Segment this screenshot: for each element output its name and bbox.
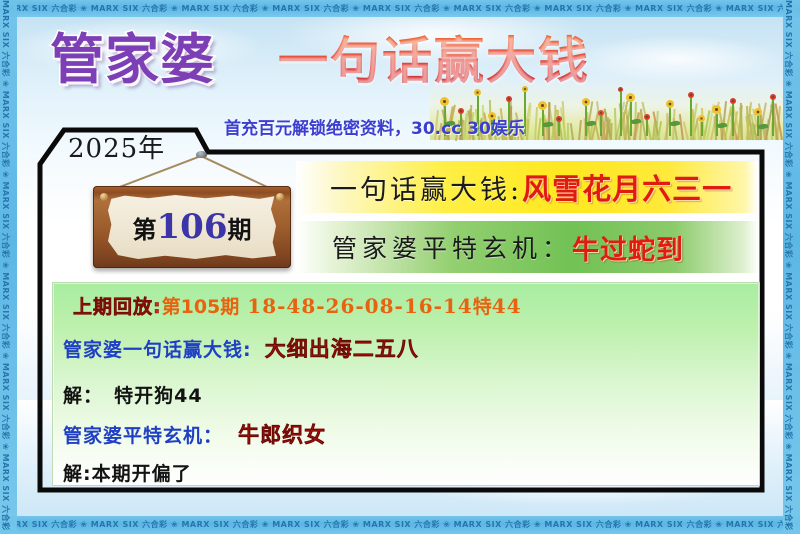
flower-head <box>582 98 590 106</box>
watermark-text-bottom: MARX SIX 六合彩 ❀ MARX SIX 六合彩 ❀ MARX SIX 六… <box>0 516 800 534</box>
saying-value: 大细出海二五八 <box>257 337 419 361</box>
banner-green-label: 管家婆平特玄机： <box>296 229 572 265</box>
watermark-border-left: MARX SIX 六合彩 ❀ MARX SIX 六合彩 ❀ MARX SIX 六… <box>0 0 17 534</box>
header-title-block: 管家婆 一句话赢大钱 <box>50 30 670 92</box>
flower-head <box>770 94 776 100</box>
flower-head <box>598 110 604 116</box>
flower-head <box>440 97 449 106</box>
watermark-border-top: MARX SIX 六合彩 ❀ MARX SIX 六合彩 ❀ MARX SIX 六… <box>0 0 800 17</box>
poster-root: 管家婆 一句话赢大钱 首充百元解锁绝密资料，30.cc 30娱乐 2025年 第… <box>0 0 800 534</box>
flower-head <box>556 116 562 122</box>
banner-ping-te-xuan-ji: 管家婆平特玄机：牛过蛇到 <box>296 221 758 273</box>
playback-row-solution-2: 解:本期开偏了 <box>63 459 192 486</box>
sign-prefix: 第 <box>133 215 157 244</box>
previous-results-panel: 上期回放:第105期18-48-26-08-16-14特44 管家婆一句话赢大钱… <box>52 282 760 486</box>
flower-head <box>754 108 762 116</box>
solution-2-text: 解:本期开偏了 <box>63 463 192 485</box>
playback-special-label: 特 <box>473 296 492 318</box>
issue-wooden-sign: 第106期 <box>93 186 291 268</box>
playback-row-xuanji: 管家婆平特玄机： 牛郎织女 <box>63 419 326 449</box>
playback-row-saying: 管家婆一句话赢大钱: 大细出海二五八 <box>63 333 419 363</box>
screw-icon-right <box>276 193 284 201</box>
flower-head <box>666 100 674 108</box>
flower-icon <box>770 94 776 136</box>
banner-yiju-hua-ying-da-qian: 一句话赢大钱:风雪花月六三一 <box>296 161 758 213</box>
sign-issue-text: 第106期 <box>133 207 252 247</box>
flower-head <box>644 114 650 120</box>
playback-issue: 第105期 <box>162 296 240 318</box>
banner-green-value: 牛过蛇到 <box>572 228 684 267</box>
solution-1-label: 解： <box>63 385 103 407</box>
watermark-border-bottom: MARX SIX 六合彩 ❀ MARX SIX 六合彩 ❀ MARX SIX 六… <box>0 516 800 534</box>
sign-number: 106 <box>157 207 228 247</box>
flower-head <box>626 93 635 102</box>
hanging-nail-icon <box>196 151 207 158</box>
playback-title: 上期回放: <box>73 296 162 318</box>
banner-yellow-value: 风雪花月六三一 <box>522 166 732 208</box>
flower-head <box>712 105 721 114</box>
sign-paper: 第106期 <box>108 195 276 259</box>
flower-head <box>538 101 547 110</box>
flower-head <box>506 96 512 102</box>
banner-yellow-label: 一句话赢大钱: <box>296 168 522 207</box>
solution-1-value: 特开狗44 <box>108 385 202 407</box>
flower-stem <box>772 100 774 136</box>
watermark-border-right: MARX SIX 六合彩 ❀ MARX SIX 六合彩 ❀ MARX SIX 六… <box>783 0 800 534</box>
year-label: 2025年 <box>68 128 165 165</box>
saying-label: 管家婆一句话赢大钱: <box>63 339 252 361</box>
promo-subtitle: 首充百元解锁绝密资料，30.cc 30娱乐 <box>224 114 525 139</box>
xuanji-value: 牛郎织女 <box>228 423 326 447</box>
playback-row-solution-1: 解： 特开狗44 <box>63 381 203 408</box>
tagline-title: 一句话赢大钱 <box>278 32 590 90</box>
flower-head <box>698 115 705 122</box>
watermark-text-top: MARX SIX 六合彩 ❀ MARX SIX 六合彩 ❀ MARX SIX 六… <box>0 0 800 17</box>
playback-special-number: 44 <box>492 294 522 318</box>
playback-numbers: 18-48-26-08-16-14 <box>239 294 473 318</box>
watermark-text-left: MARX SIX 六合彩 ❀ MARX SIX 六合彩 ❀ MARX SIX 六… <box>0 0 14 534</box>
flower-head <box>730 98 736 104</box>
xuanji-label: 管家婆平特玄机： <box>63 425 223 447</box>
sign-suffix: 期 <box>227 215 251 244</box>
screw-icon-left <box>100 193 108 201</box>
watermark-text-right: MARX SIX 六合彩 ❀ MARX SIX 六合彩 ❀ MARX SIX 六… <box>783 0 797 534</box>
flower-head <box>688 92 694 98</box>
brand-title: 管家婆 <box>50 30 215 90</box>
playback-row-numbers: 上期回放:第105期18-48-26-08-16-14特44 <box>73 292 522 319</box>
sign-board: 第106期 <box>93 186 291 268</box>
